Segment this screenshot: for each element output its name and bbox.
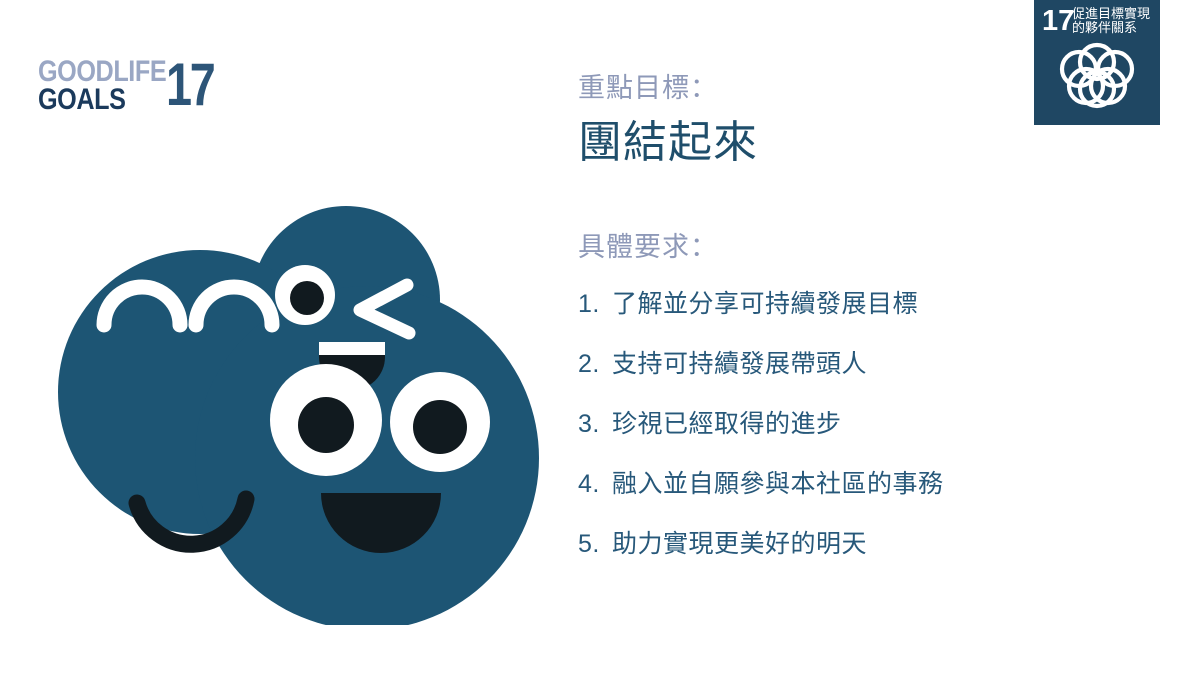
list-item-number: 3. [578, 409, 612, 439]
slide-canvas: GOODLIFE GOALS 17 [0, 0, 1200, 676]
list-item: 4. 融入並自願參與本社區的事務 [578, 469, 1178, 499]
list-item: 2. 支持可持續發展帶頭人 [578, 349, 1178, 379]
big-smile-face-right-eye-pupil [413, 400, 467, 454]
logo-goodlife-text: GOODLIFE [38, 58, 166, 86]
sdg-badge-title-line1: 促進目標實現 [1072, 6, 1150, 21]
list-item: 3. 珍視已經取得的進步 [578, 409, 1178, 439]
sdg-badge-number: 17 [1042, 5, 1074, 37]
big-smile-face-left-eye-pupil [298, 397, 354, 453]
list-item-text: 助力實現更美好的明天 [612, 529, 1178, 559]
list-item-text: 了解並分享可持續發展目標 [612, 289, 1178, 319]
sdg-badge-title-line2: 的夥伴關系 [1072, 20, 1137, 35]
main-title: 團結起來 [578, 118, 1178, 169]
three-blue-smiling-faces-illustration [30, 105, 550, 625]
list-item-number: 1. [578, 289, 612, 319]
requirements-eyebrow-label: 具體要求： [578, 231, 1178, 263]
face-group [58, 206, 539, 625]
list-item-text: 支持可持續發展帶頭人 [612, 349, 1178, 379]
goal-eyebrow-label: 重點目標： [578, 72, 1178, 104]
requirements-list: 1. 了解並分享可持續發展目標 2. 支持可持續發展帶頭人 3. 珍視已經取得的… [578, 289, 1178, 559]
list-item-text: 融入並自願參與本社區的事務 [612, 469, 1178, 499]
list-item-text: 珍視已經取得的進步 [612, 409, 1178, 439]
text-content-column: 重點目標： 團結起來 具體要求： 1. 了解並分享可持續發展目標 2. 支持可持… [578, 72, 1178, 589]
list-item: 1. 了解並分享可持續發展目標 [578, 289, 1178, 319]
list-item-number: 5. [578, 529, 612, 559]
list-item: 5. 助力實現更美好的明天 [578, 529, 1178, 559]
winking-face-open-eye-pupil [290, 281, 324, 315]
winking-face-teeth [319, 342, 385, 355]
list-item-number: 4. [578, 469, 612, 499]
list-item-number: 2. [578, 349, 612, 379]
